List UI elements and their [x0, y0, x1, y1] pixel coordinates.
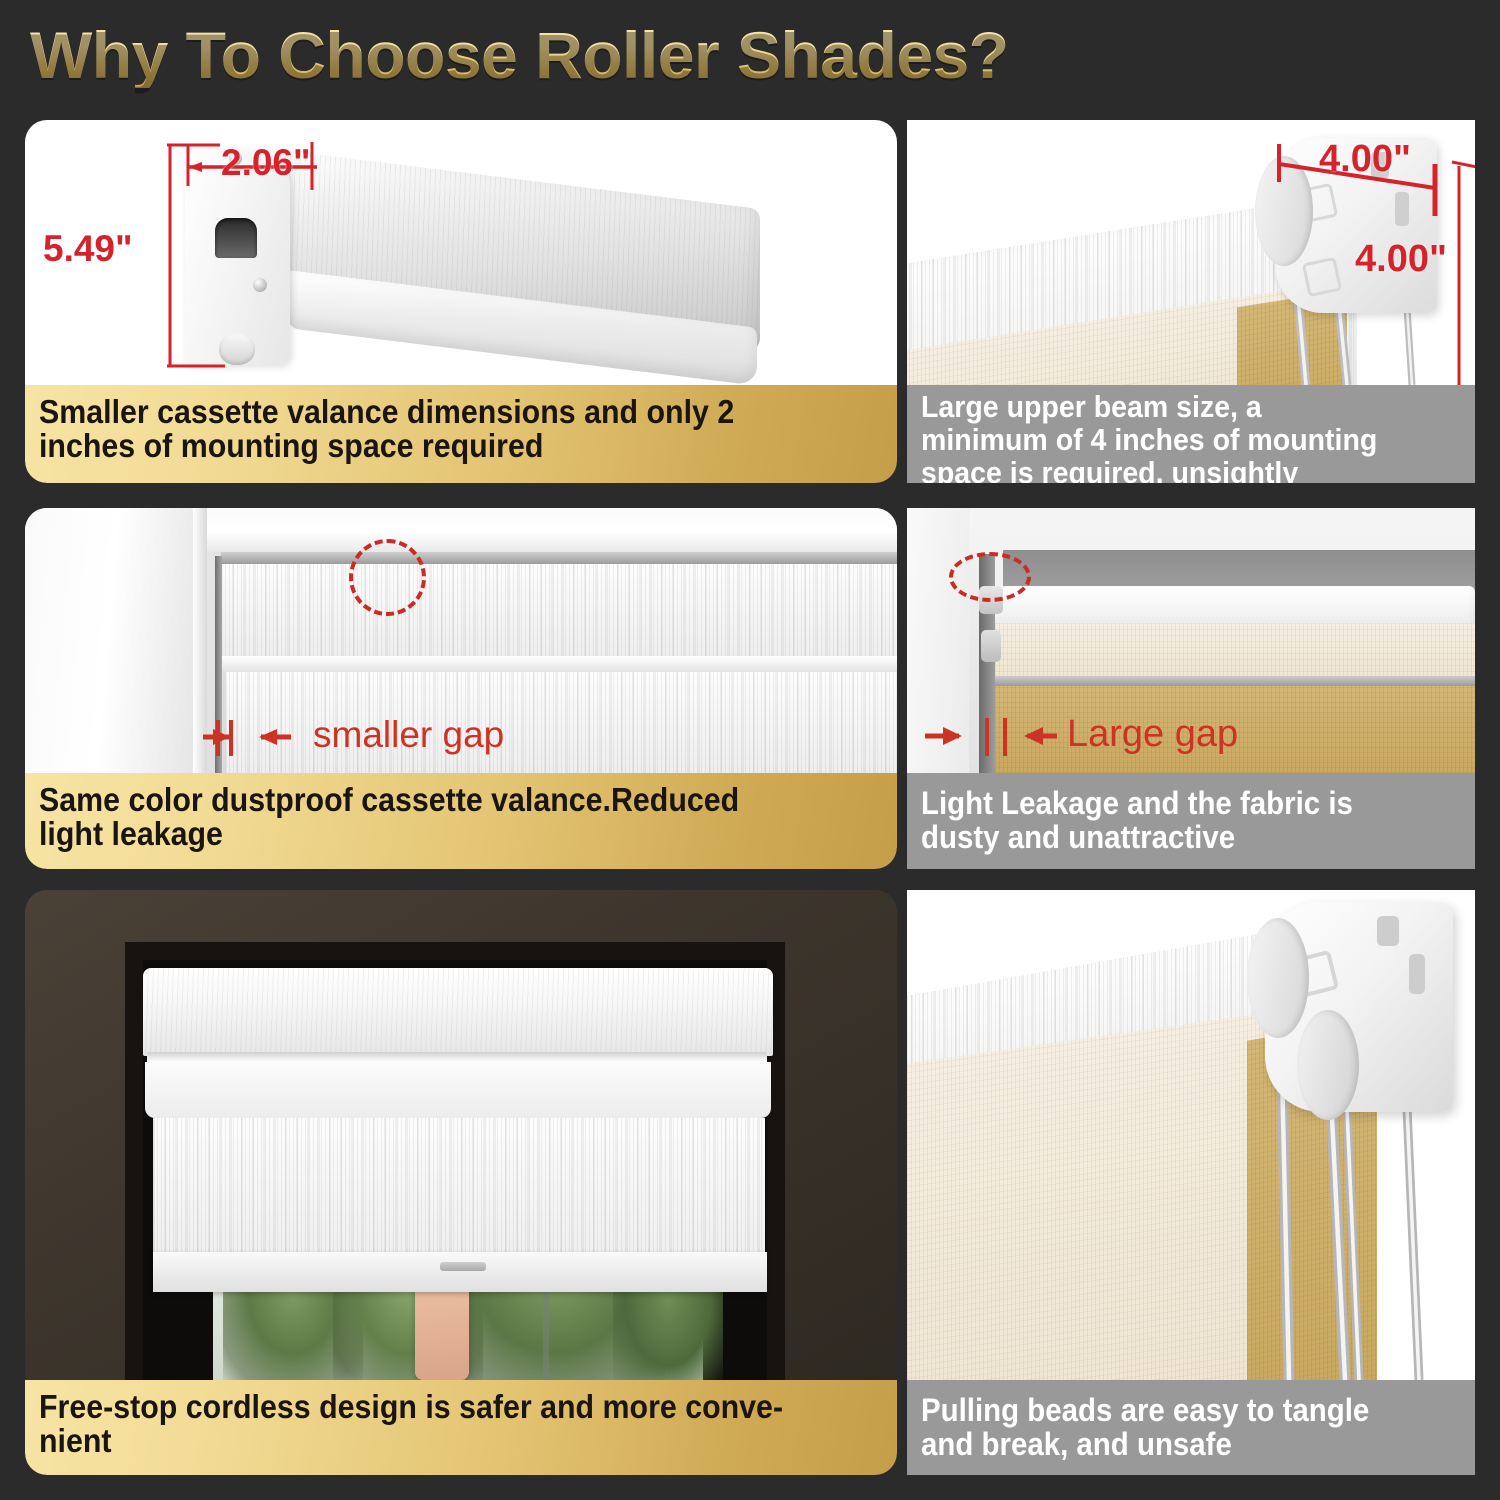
panel-cordless-design: Free-stop cordless design is safer and m… — [25, 890, 897, 1475]
panel-3-caption: Same color dustproof cassette valance.Re… — [25, 773, 897, 869]
roller-disc-bottom — [1297, 1010, 1359, 1120]
roller-disc-top — [1247, 918, 1309, 1038]
title-bar: Why To Choose Roller Shades? — [0, 0, 1500, 110]
cassette-lower — [145, 1062, 771, 1118]
panel-6-photo — [907, 890, 1475, 1380]
dimension-overlay — [25, 120, 897, 385]
panel-3-photo: smaller gap — [25, 508, 897, 773]
bead-chain-d — [1407, 1108, 1419, 1380]
panel-3-caption-text: Same color dustproof cassette valance.Re… — [39, 783, 739, 850]
panel-4-photo: Large gap — [907, 508, 1475, 773]
dimension-label-height: 5.49" — [43, 228, 133, 270]
dimension-label-width: 2.06" — [221, 142, 311, 184]
panel-pulling-beads: Pulling beads are easy to tangle and bre… — [907, 890, 1475, 1475]
gap-label-large: Large gap — [1067, 713, 1238, 756]
panel-1-photo: 2.06" 5.49" — [25, 120, 897, 385]
panel-5-caption: Free-stop cordless design is safer and m… — [25, 1380, 897, 1475]
panel-dustproof-valance: smaller gap Same color dustproof cassett… — [25, 508, 897, 869]
panel-light-leakage: Large gap Light Leakage and the fabric i… — [907, 508, 1475, 869]
gap-label-smaller: smaller gap — [313, 714, 504, 756]
panel-large-upper-beam: 4.00" 4.00" Large upper beam size, a min… — [907, 120, 1475, 483]
bracket-slot-a — [1377, 916, 1399, 946]
panel-2-photo: 4.00" 4.00" — [907, 120, 1475, 385]
bottom-rail-5 — [153, 1252, 767, 1292]
bracket-slot-b — [1409, 954, 1425, 994]
dimension-label-beam-depth: 4.00" — [1355, 238, 1447, 281]
window-shade-fabric — [153, 1118, 765, 1266]
panel-1-caption: Smaller cassette valance dimensions and … — [25, 385, 897, 483]
panel-2-caption-text: Large upper beam size, a minimum of 4 in… — [921, 391, 1377, 483]
panel-6-caption-text: Pulling beads are easy to tangle and bre… — [921, 1394, 1369, 1462]
panel-4-caption: Light Leakage and the fabric is dusty an… — [907, 773, 1475, 869]
panel-5-caption-text: Free-stop cordless design is safer and m… — [39, 1390, 783, 1457]
panel-4-caption-text: Light Leakage and the fabric is dusty an… — [921, 787, 1353, 855]
panel-smaller-cassette: 2.06" 5.49" Smaller cassette valance dim… — [25, 120, 897, 483]
cassette-head — [143, 968, 773, 1056]
panel-2-caption: Large upper beam size, a minimum of 4 in… — [907, 385, 1475, 483]
cassette-groove — [147, 1052, 767, 1062]
panel-6-caption: Pulling beads are easy to tangle and bre… — [907, 1380, 1475, 1475]
panel-1-caption-text: Smaller cassette valance dimensions and … — [39, 395, 734, 462]
dimension-label-beam-width: 4.00" — [1319, 138, 1411, 181]
page-title: Why To Choose Roller Shades? — [30, 22, 1009, 88]
pull-handle — [440, 1262, 486, 1271]
panel-5-photo — [25, 890, 897, 1380]
